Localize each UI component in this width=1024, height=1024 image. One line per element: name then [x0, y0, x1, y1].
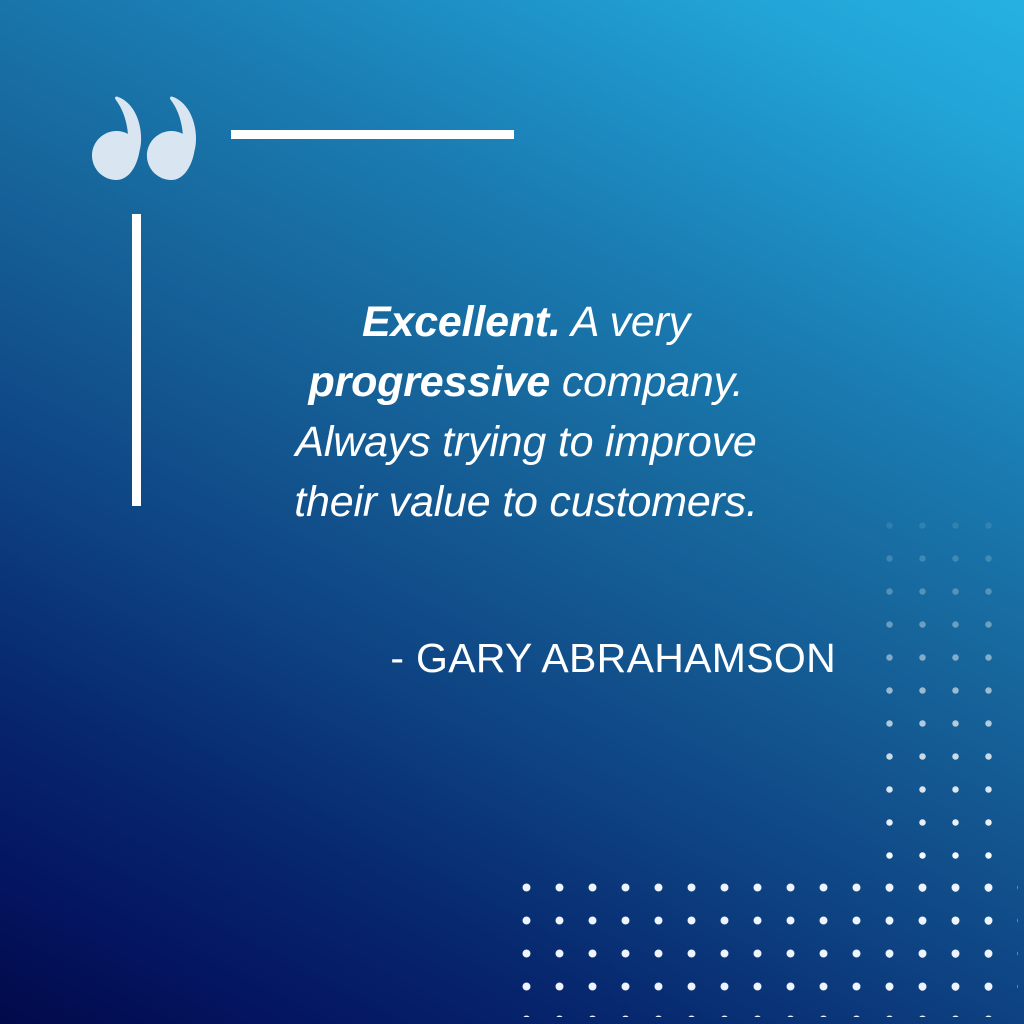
dot-grid-right-decoration: [869, 505, 1017, 1017]
quote-line: Always trying to improve: [238, 412, 814, 472]
quote-line: progressive company.: [238, 352, 814, 412]
quote-run: their value to customers.: [294, 478, 757, 526]
quote-attribution: - GARY ABRAHAMSON: [238, 632, 836, 684]
horizontal-rule-divider: [231, 130, 514, 139]
testimonial-quote-card: Excellent. A veryprogressive company.Alw…: [0, 0, 1024, 1024]
quote-line: their value to customers.: [238, 472, 814, 532]
vertical-rule-divider: [132, 214, 141, 506]
quote-emphasis: Excellent.: [362, 298, 561, 346]
quote-run: company.: [550, 358, 743, 406]
quote-text: Excellent. A veryprogressive company.Alw…: [238, 292, 814, 532]
quote-line: Excellent. A very: [238, 292, 814, 352]
quote-run: A very: [561, 298, 690, 346]
open-quote-icon: [92, 96, 196, 180]
dot-grid-bottom-decoration: [506, 867, 1018, 1017]
quote-run: Always trying to improve: [295, 418, 756, 466]
quote-emphasis: progressive: [309, 358, 551, 406]
